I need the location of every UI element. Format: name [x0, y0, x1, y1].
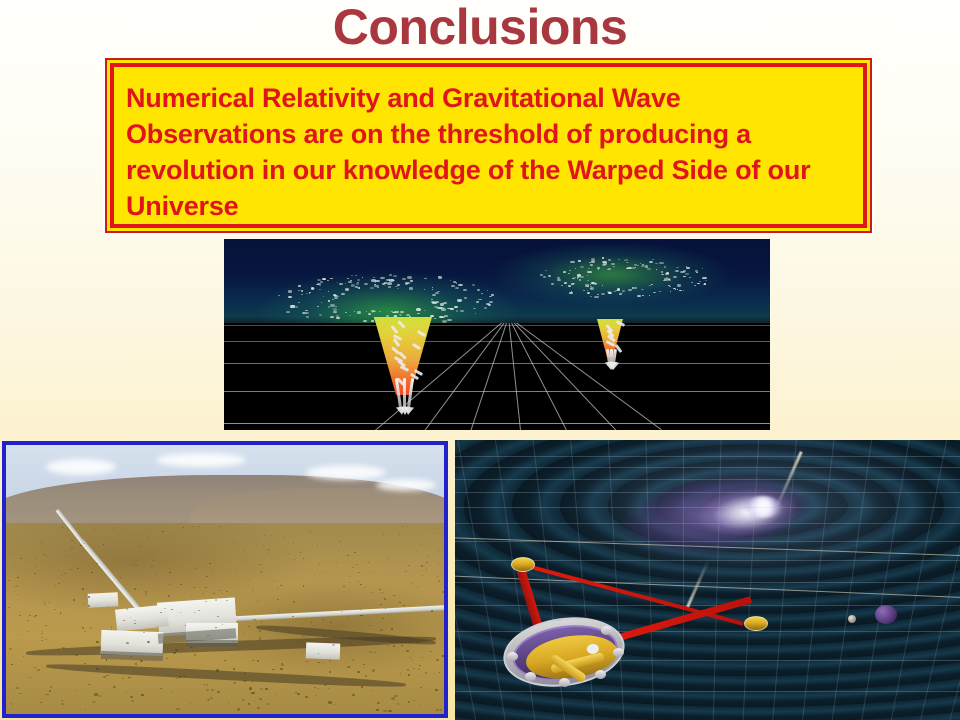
accretion-disk-particle — [487, 290, 488, 291]
accretion-disk-particle — [568, 285, 571, 287]
photo-vegetation-speck — [123, 620, 125, 621]
photo-vegetation-speck — [376, 709, 379, 711]
grid-line-horizontal — [224, 363, 770, 364]
accretion-disk-particle — [337, 282, 338, 283]
accretion-disk-particle — [328, 300, 330, 301]
lisa-spacecraft-right — [744, 616, 768, 631]
photo-vegetation-speck — [82, 627, 84, 628]
photo-vegetation-speck — [324, 635, 326, 636]
photo-vegetation-speck — [425, 672, 427, 673]
accretion-disk-particle — [649, 295, 650, 296]
accretion-disk-particle — [447, 308, 449, 309]
accretion-disk-particle — [441, 308, 446, 311]
photo-vegetation-speck — [338, 551, 339, 552]
photo-vegetation-speck — [73, 599, 75, 600]
accretion-disk-particle — [597, 267, 600, 269]
photo-vegetation-speck — [383, 710, 387, 713]
accretion-disk-particle — [309, 292, 311, 293]
photo-vegetation-speck — [249, 687, 252, 689]
photo-vegetation-speck — [244, 673, 246, 675]
accretion-disk-particle — [453, 281, 456, 283]
accretion-disk-particle — [699, 281, 701, 282]
accretion-disk-particle — [642, 264, 645, 265]
accretion-disk-particle — [595, 283, 597, 284]
photo-vegetation-speck — [357, 671, 360, 673]
photo-vegetation-speck — [408, 674, 410, 676]
photo-vegetation-speck — [35, 558, 36, 559]
accretion-disk-particle — [634, 264, 637, 265]
photo-vegetation-speck — [151, 566, 153, 567]
accretion-disk-particle — [635, 267, 636, 268]
accretion-disk-particle — [362, 277, 363, 278]
photo-vegetation-speck — [317, 688, 318, 689]
lisa-spacecraft-upper — [511, 557, 535, 572]
photo-vegetation-speck — [192, 526, 193, 527]
accretion-disk-particle — [407, 276, 412, 279]
accretion-disk-particle — [689, 277, 691, 278]
accretion-disk-particle — [380, 277, 385, 280]
photo-vegetation-speck — [347, 555, 348, 556]
photo-vegetation-speck — [437, 576, 438, 577]
photo-vegetation-speck — [145, 591, 147, 592]
accretion-disk-particle — [665, 273, 669, 275]
photo-vegetation-speck — [242, 699, 245, 701]
accretion-disk-particle — [587, 290, 588, 291]
photo-vegetation-speck — [252, 590, 254, 591]
ligo-observatory-photo — [2, 441, 448, 718]
photo-vegetation-speck — [215, 627, 217, 628]
accretion-disk-particle — [634, 287, 637, 289]
grid-line-perspective — [448, 323, 509, 430]
accretion-disk-particle — [371, 320, 374, 322]
spacecraft-thruster — [595, 670, 606, 679]
photo-vegetation-speck — [271, 535, 272, 536]
accretion-disk-particle — [348, 281, 351, 283]
photo-vegetation-speck — [143, 632, 145, 633]
accretion-disk-particle — [463, 289, 467, 291]
photo-cloud — [376, 479, 436, 491]
accretion-disk-particle — [322, 278, 326, 280]
accretion-disk-particle — [394, 315, 396, 316]
photo-vegetation-speck — [166, 658, 167, 659]
photo-vegetation-speck — [75, 543, 76, 544]
accretion-disk-particle — [351, 285, 353, 286]
photo-vegetation-speck — [438, 580, 440, 581]
photo-vegetation-speck — [351, 644, 354, 646]
photo-vegetation-speck — [219, 590, 220, 591]
accretion-disk-particle — [440, 303, 445, 306]
accretion-disk-particle — [540, 274, 543, 276]
accretion-disk-particle — [661, 271, 664, 272]
accretion-disk-particle — [545, 270, 548, 272]
accretion-disk-particle — [327, 280, 330, 281]
photo-vegetation-speck — [322, 619, 324, 620]
photo-vegetation-speck — [360, 584, 362, 585]
photo-vegetation-speck — [8, 580, 9, 581]
accretion-disk-particle — [603, 262, 607, 264]
accretion-disk-particle — [430, 315, 434, 317]
photo-vegetation-speck — [216, 669, 219, 671]
photo-vegetation-speck — [329, 660, 331, 661]
photo-vegetation-speck — [266, 703, 268, 705]
accretion-disk-particle — [456, 283, 457, 284]
photo-vegetation-speck — [259, 564, 260, 565]
photo-vegetation-speck — [384, 598, 386, 599]
accretion-disk-particle — [372, 312, 373, 313]
binary-black-hole-figure — [224, 239, 770, 430]
photo-vegetation-speck — [179, 676, 181, 677]
accretion-disk-particle — [705, 280, 707, 281]
photo-vegetation-speck — [222, 624, 223, 625]
accretion-disk-particle — [330, 278, 333, 280]
photo-vegetation-speck — [64, 573, 65, 574]
accretion-disk-particle — [379, 311, 381, 312]
accretion-disk-particle — [475, 313, 476, 314]
accretion-disk-particle — [626, 262, 629, 263]
accretion-disk-particle — [336, 317, 340, 319]
accretion-disk-particle — [424, 289, 425, 290]
photo-vegetation-speck — [194, 654, 196, 655]
accretion-disk-particle — [391, 279, 394, 281]
accretion-disk-particle — [637, 265, 639, 266]
accretion-disk-particle — [481, 293, 483, 294]
photo-vegetation-speck — [334, 534, 335, 535]
photo-vegetation-speck — [277, 628, 279, 629]
accretion-disk-particle — [675, 270, 679, 272]
accretion-disk-particle — [301, 290, 303, 291]
accretion-disk-particle — [357, 279, 360, 281]
photo-vegetation-speck — [397, 703, 399, 705]
photo-vegetation-speck — [372, 669, 375, 671]
photo-vegetation-speck — [171, 609, 173, 610]
photo-vegetation-speck — [156, 574, 157, 575]
accretion-disk-particle — [288, 296, 291, 298]
grid-line-perspective — [508, 323, 662, 430]
accretion-disk-particle — [457, 299, 462, 302]
photo-vegetation-speck — [61, 703, 64, 705]
photo-vegetation-speck — [440, 709, 442, 710]
photo-vegetation-speck — [84, 663, 85, 664]
accretion-disk-particle — [577, 274, 581, 276]
photo-vegetation-speck — [394, 695, 398, 698]
photo-vegetation-speck — [237, 708, 241, 711]
photo-vegetation-speck — [70, 569, 72, 570]
photo-vegetation-speck — [113, 686, 116, 688]
photo-vegetation-speck — [406, 650, 409, 652]
photo-vegetation-speck — [257, 707, 260, 709]
accretion-disk-particle — [675, 289, 676, 290]
accretion-disk-particle — [437, 291, 440, 293]
photo-building-shadow — [186, 640, 238, 647]
accretion-disk-particle — [594, 296, 598, 298]
photo-vegetation-speck — [85, 709, 86, 710]
accretion-disk-particle — [590, 264, 593, 266]
photo-vegetation-speck — [96, 563, 98, 564]
accretion-disk-particle — [450, 280, 451, 281]
spacetime-grid-line — [455, 456, 960, 457]
photo-vegetation-speck — [91, 572, 92, 573]
accretion-disk-particle — [697, 283, 699, 284]
accretion-disk-particle — [388, 286, 390, 287]
accretion-disk-particle — [677, 284, 681, 286]
accretion-disk-particle — [333, 311, 337, 313]
accretion-disk-particle — [337, 296, 339, 297]
accretion-disk-particle — [572, 278, 574, 279]
photo-vegetation-speck — [409, 657, 411, 658]
photo-vegetation-speck — [35, 615, 36, 616]
accretion-disk-particle — [618, 259, 620, 260]
photo-vegetation-speck — [50, 686, 52, 688]
accretion-disk-particle — [278, 295, 280, 296]
accretion-disk-particle — [570, 261, 574, 263]
photo-vegetation-speck — [306, 661, 307, 662]
accretion-disk-particle — [406, 314, 410, 316]
accretion-disk-particle — [484, 307, 487, 309]
photo-vegetation-speck — [315, 695, 317, 696]
spacetime-grid-line — [455, 492, 960, 493]
accretion-disk-particle — [489, 296, 491, 297]
photo-vegetation-speck — [183, 675, 186, 677]
accretion-disk-particle — [460, 310, 464, 312]
photo-vegetation-speck — [194, 612, 195, 613]
photo-vegetation-speck — [126, 642, 128, 644]
photo-vegetation-speck — [41, 542, 42, 543]
accretion-disk-particle — [543, 276, 546, 277]
photo-vegetation-speck — [41, 633, 42, 634]
accretion-disk-particle — [587, 280, 590, 282]
accretion-disk-particle — [590, 296, 592, 297]
photo-vegetation-speck — [193, 587, 194, 588]
accretion-disk-particle — [356, 283, 359, 285]
accretion-disk-particle — [686, 267, 690, 269]
accretion-disk-particle — [628, 289, 631, 291]
accretion-disk-particle — [679, 290, 681, 291]
accretion-disk-particle — [472, 284, 475, 286]
accretion-disk-particle — [580, 266, 584, 268]
accretion-disk-particle — [332, 299, 334, 300]
photo-vegetation-speck — [23, 656, 24, 657]
accretion-disk-particle — [489, 301, 493, 303]
accretion-disk-particle — [385, 285, 386, 286]
photo-vegetation-speck — [112, 582, 113, 583]
accretion-disk-particle — [694, 285, 696, 286]
accretion-disk-particle — [703, 284, 705, 285]
accretion-disk-particle — [350, 280, 352, 281]
accretion-disk-particle — [319, 289, 321, 290]
accretion-disk-particle — [564, 282, 568, 284]
accretion-disk-particle — [432, 289, 434, 290]
accretion-disk-particle — [702, 277, 706, 279]
photo-vegetation-speck — [133, 563, 134, 564]
accretion-disk-particle — [656, 269, 658, 270]
photo-vegetation-speck — [413, 700, 414, 701]
photo-vegetation-speck — [94, 693, 98, 696]
photo-vegetation-speck — [130, 696, 132, 698]
accretion-disk-particle — [432, 287, 434, 288]
accretion-disk-particle — [622, 290, 626, 292]
accretion-disk-particle — [569, 270, 570, 271]
accretion-disk-particle — [347, 278, 348, 279]
photo-vegetation-speck — [399, 602, 401, 603]
photo-vegetation-speck — [207, 700, 208, 701]
photo-vegetation-speck — [303, 558, 305, 559]
photo-vegetation-speck — [80, 545, 81, 546]
accretion-disk-particle — [685, 273, 688, 275]
accretion-disk-particle — [587, 292, 590, 294]
grid-line-horizontal — [224, 423, 770, 424]
planet-large — [875, 605, 897, 624]
accretion-disk-particle — [393, 275, 396, 277]
accretion-disk-particle — [608, 259, 612, 261]
photo-vegetation-speck — [369, 651, 372, 653]
accretion-disk-particle — [364, 283, 368, 285]
accretion-disk-particle — [357, 311, 361, 313]
photo-vegetation-speck — [74, 690, 76, 691]
accretion-disk-particle — [439, 316, 443, 318]
grid-line-horizontal — [224, 391, 770, 392]
photo-vegetation-speck — [430, 651, 432, 652]
accretion-disk-particle — [448, 308, 451, 310]
photo-vegetation-speck — [420, 687, 422, 688]
photo-vegetation-speck — [377, 702, 380, 704]
photo-vegetation-speck — [256, 601, 258, 602]
accretion-disk-particle — [702, 268, 704, 269]
photo-vegetation-speck — [75, 654, 78, 656]
spacecraft-thruster — [559, 678, 570, 687]
photo-vegetation-speck — [328, 701, 331, 703]
photo-vegetation-speck — [17, 577, 19, 578]
spacecraft-thruster — [507, 652, 518, 661]
jet-arrow — [403, 378, 406, 409]
accretion-disk-particle — [632, 287, 634, 288]
accretion-disk-particle — [478, 299, 481, 301]
accretion-disk-particle — [578, 260, 581, 261]
photo-building — [88, 592, 119, 608]
photo-vegetation-speck — [124, 542, 125, 543]
accretion-disk-particle — [677, 289, 678, 290]
accretion-disk-particle — [432, 294, 436, 296]
photo-vegetation-speck — [365, 675, 367, 677]
accretion-disk-particle — [683, 276, 686, 278]
photo-vegetation-speck — [277, 566, 278, 567]
spacecraft-thruster — [601, 626, 612, 635]
accretion-disk-particle — [409, 287, 414, 290]
photo-vegetation-speck — [236, 613, 237, 614]
photo-vegetation-speck — [120, 577, 121, 578]
accretion-disk-particle — [389, 274, 392, 276]
accretion-disk-particle — [601, 293, 605, 295]
accretion-disk-particle — [664, 266, 667, 268]
photo-vegetation-speck — [176, 708, 179, 710]
photo-vegetation-speck — [9, 648, 12, 650]
accretion-disk-particle — [424, 310, 425, 311]
accretion-disk-particle — [399, 314, 402, 316]
accretion-disk-particle — [602, 257, 604, 258]
photo-vegetation-speck — [233, 682, 236, 684]
accretion-disk-particle — [473, 308, 476, 310]
accretion-disk-particle — [454, 306, 458, 308]
photo-vegetation-speck — [84, 604, 85, 605]
accretion-disk-particle — [613, 266, 615, 267]
page-title: Conclusions — [0, 1, 960, 53]
accretion-disk-particle — [579, 279, 581, 280]
photo-vegetation-speck — [111, 626, 113, 627]
accretion-disk-particle — [625, 259, 628, 261]
photo-cloud — [306, 465, 386, 480]
accretion-disk-particle — [696, 272, 698, 273]
photo-vegetation-speck — [209, 563, 210, 564]
accretion-disk-particle — [548, 275, 551, 277]
accretion-disk-particle — [435, 301, 440, 304]
accretion-disk-particle — [382, 283, 385, 285]
accretion-disk-particle — [673, 276, 677, 278]
accretion-disk-particle — [551, 283, 554, 285]
photo-vegetation-speck — [280, 585, 282, 586]
accretion-disk-particle — [561, 285, 562, 286]
accretion-disk-particle — [314, 288, 316, 289]
accretion-disk-particle — [626, 268, 628, 269]
accretion-disk-particle — [591, 260, 595, 262]
photo-vegetation-speck — [77, 568, 79, 569]
callout-text: Numerical Relativity and Gravitational W… — [126, 80, 857, 224]
photo-vegetation-speck — [302, 635, 305, 637]
accretion-disk-particle — [377, 287, 379, 288]
accretion-disk-particle — [642, 295, 643, 296]
photo-vegetation-speck — [48, 602, 49, 603]
accretion-disk-particle — [339, 283, 343, 285]
photo-vegetation-speck — [442, 655, 445, 657]
accretion-disk-particle — [345, 283, 346, 284]
accretion-disk-particle — [653, 292, 656, 293]
photo-vegetation-speck — [267, 552, 268, 553]
photo-vegetation-speck — [235, 570, 236, 571]
photo-vegetation-speck — [54, 585, 55, 586]
photo-vegetation-speck — [329, 671, 331, 672]
accretion-disk-particle — [659, 291, 661, 292]
accretion-disk-particle — [587, 275, 588, 276]
accretion-disk-particle — [590, 288, 592, 289]
accretion-disk-particle — [397, 288, 399, 289]
accretion-disk-particle — [333, 308, 337, 310]
spacecraft-thruster — [525, 672, 536, 681]
accretion-disk-particle — [301, 294, 302, 295]
accretion-disk-particle — [591, 282, 595, 284]
photo-vegetation-speck — [71, 540, 72, 541]
accretion-disk-particle — [416, 308, 421, 311]
accretion-disk-particle — [334, 297, 338, 299]
accretion-disk-particle — [686, 266, 687, 267]
accretion-disk-particle — [455, 287, 459, 289]
accretion-disk-particle — [373, 277, 374, 278]
accretion-disk-particle — [652, 259, 654, 260]
accretion-disk-particle — [608, 292, 612, 294]
photo-vegetation-speck — [147, 641, 149, 643]
grid-line-perspective — [508, 323, 596, 430]
lisa-mission-illustration — [455, 440, 960, 720]
accretion-disk-particle — [424, 278, 427, 280]
photo-vegetation-speck — [134, 588, 136, 589]
accretion-disk-particle — [583, 290, 585, 291]
accretion-disk-particle — [366, 311, 367, 312]
accretion-disk-particle — [651, 284, 653, 285]
accretion-disk-particle — [317, 306, 319, 307]
photo-cloud — [46, 459, 116, 475]
planet-small — [848, 615, 856, 623]
accretion-disk-particle — [611, 263, 615, 265]
accretion-disk-particle — [306, 316, 310, 318]
photo-vegetation-speck — [95, 528, 96, 529]
accretion-disk-particle — [355, 286, 358, 288]
